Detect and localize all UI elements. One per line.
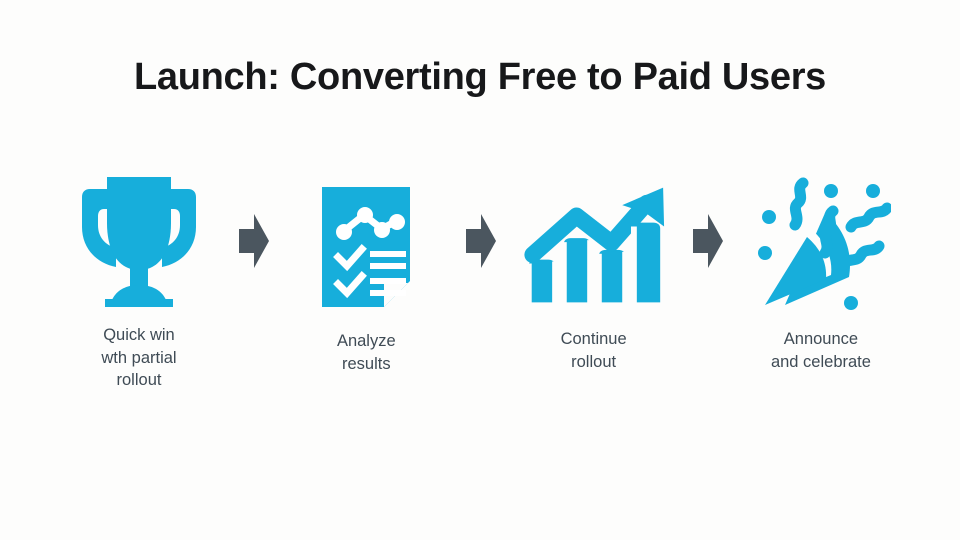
flow-step-analyze-results[interactable]: Analyze results	[287, 172, 445, 369]
arrow-right-icon	[458, 172, 502, 310]
analysis-document-icon	[293, 178, 439, 316]
flow-step-label: Announce and celebrate	[771, 328, 871, 373]
growth-chart-icon	[521, 176, 667, 314]
flow-step-announce-celebrate[interactable]: Announce and celebrate	[742, 172, 900, 369]
trophy-icon	[66, 172, 212, 310]
flow-step-label: Analyze results	[337, 330, 396, 375]
arrow-right-icon	[685, 172, 729, 310]
arrow-right-icon	[231, 172, 275, 310]
slide-canvas: Launch: Converting Free to Paid Users	[0, 0, 960, 540]
page-title: Launch: Converting Free to Paid Users	[0, 56, 960, 99]
flow-step-continue-rollout[interactable]: Continue rollout	[515, 172, 673, 369]
flow-step-label: Quick win wth partial rollout	[101, 324, 176, 392]
flow-step-label: Continue rollout	[561, 328, 627, 373]
flow-step-quick-win[interactable]: Quick win wth partial rollout	[60, 172, 218, 392]
party-popper-icon	[748, 176, 894, 314]
process-flow: Quick win wth partial rollout	[60, 172, 900, 392]
